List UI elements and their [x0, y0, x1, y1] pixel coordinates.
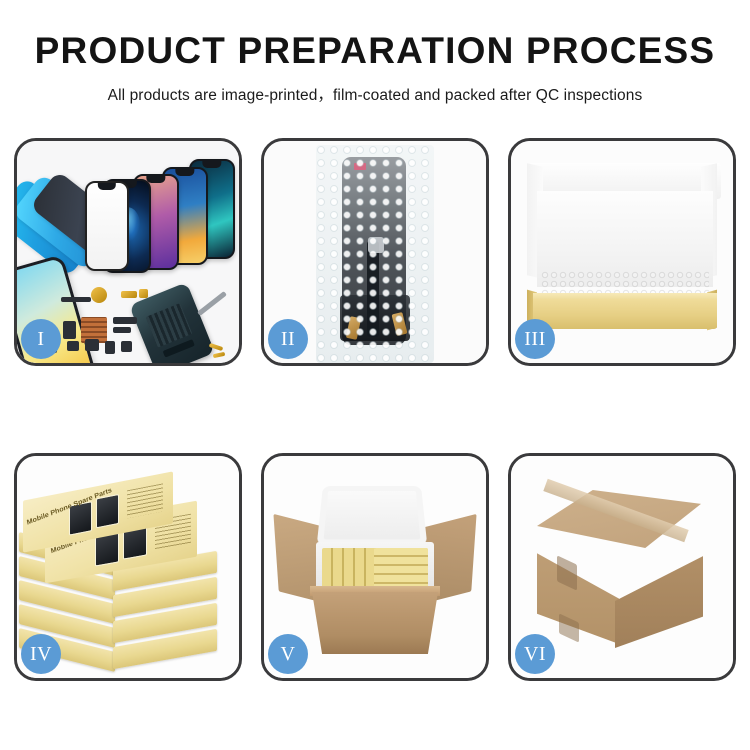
process-step-panel-6[interactable]: VI	[508, 453, 736, 681]
page-header: PRODUCT PREPARATION PROCESS All products…	[0, 0, 750, 105]
flex-cable-icon	[113, 317, 137, 324]
kraft-box-tray-icon	[533, 299, 717, 329]
step-badge-6: VI	[515, 634, 555, 674]
step-badge-1: I	[21, 319, 61, 359]
flex-cable-icon	[113, 327, 131, 333]
process-steps-grid: I II	[14, 138, 736, 681]
connector-part-icon	[121, 291, 137, 298]
flex-cable-icon	[61, 297, 91, 302]
step-badge-3: III	[515, 319, 555, 359]
button-part-icon	[67, 341, 79, 351]
step-badge-2: II	[268, 319, 308, 359]
process-step-panel-5[interactable]: V	[261, 453, 489, 681]
carton-body-icon	[312, 592, 438, 654]
camera-part-icon	[85, 339, 99, 351]
page-title: PRODUCT PREPARATION PROCESS	[0, 32, 750, 71]
flex-cable-icon	[63, 321, 76, 339]
sensor-part-icon	[121, 341, 132, 352]
process-step-panel-1[interactable]: I	[14, 138, 242, 366]
bubble-wrap-bag-icon	[316, 145, 434, 363]
vibrator-part-icon	[105, 341, 115, 354]
packed-boxes-icon	[374, 548, 428, 590]
speaker-part-icon	[91, 287, 107, 303]
page-subtitle: All products are image-printed，film-coat…	[0, 83, 750, 105]
bubble-texture	[316, 145, 434, 363]
process-step-panel-2[interactable]: II	[261, 138, 489, 366]
process-step-panel-4[interactable]: Mobile Phone Spare Parts Mobile Phone Sp…	[14, 453, 242, 681]
process-step-panel-3[interactable]: III	[508, 138, 736, 366]
step-badge-4: IV	[21, 634, 61, 674]
product-window-icon	[96, 494, 119, 528]
foam-lid-icon	[317, 486, 428, 546]
step-badge-5: V	[268, 634, 308, 674]
screw-part-icon	[139, 289, 148, 298]
spec-text-lines	[127, 483, 163, 518]
tempered-glass-icon	[85, 181, 129, 271]
